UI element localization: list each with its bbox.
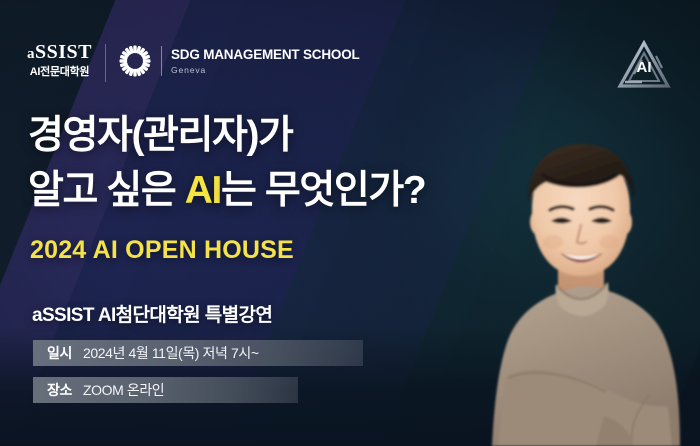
assist-logo: aSSIST AI전문대학원 xyxy=(27,42,92,78)
info-label-location: 장소 xyxy=(47,380,72,400)
sdg-logo-title: SDG MANAGEMENT SCHOOL xyxy=(171,48,360,62)
logo-divider xyxy=(105,44,106,82)
ai-badge-label: AI xyxy=(637,59,652,76)
assist-logo-lead: a xyxy=(27,46,35,62)
headline-block: 경영자(관리자)가 알고 싶은 AI는 무엇인가? xyxy=(28,108,425,219)
ai-triangle-badge-icon: AI xyxy=(616,38,672,92)
headline-highlight-ai: AI xyxy=(185,169,221,212)
sdg-wheel-icon xyxy=(118,44,152,78)
poster-header: aSSIST AI전문대학원 xyxy=(0,0,700,104)
promo-poster: aSSIST AI전문대학원 xyxy=(0,0,700,446)
sdg-logo-subtitle: Geneva xyxy=(171,66,360,75)
sdg-logo-text: SDG MANAGEMENT SCHOOL Geneva xyxy=(171,48,360,74)
info-value-location: ZOOM 온라인 xyxy=(83,380,164,400)
assist-logo-rest: SSIST xyxy=(35,41,92,63)
headline-line-2-before: 알고 싶은 xyxy=(28,169,185,212)
event-subheadline: 2024 AI OPEN HOUSE xyxy=(30,236,294,265)
assist-logo-subtitle: AI전문대학원 xyxy=(27,67,92,78)
info-label-datetime: 일시 xyxy=(47,343,72,363)
lecture-title: aSSIST AI첨단대학원 특별강연 xyxy=(32,300,272,327)
info-value-datetime: 2024년 4월 11일(목) 저녁 7시~ xyxy=(83,343,259,363)
headline-line-2-after: 는 무엇인가? xyxy=(221,169,425,212)
headline-line-1: 경영자(관리자)가 xyxy=(28,108,425,163)
info-row-location: 장소 ZOOM 온라인 xyxy=(33,377,298,403)
sdg-logo: SDG MANAGEMENT SCHOOL Geneva xyxy=(118,44,360,78)
info-row-datetime: 일시 2024년 4월 11일(목) 저녁 7시~ xyxy=(33,340,363,366)
headline-line-2: 알고 싶은 AI는 무엇인가? xyxy=(28,163,425,218)
sdg-logo-separator xyxy=(161,46,162,76)
assist-logo-wordmark: aSSIST xyxy=(27,42,92,62)
